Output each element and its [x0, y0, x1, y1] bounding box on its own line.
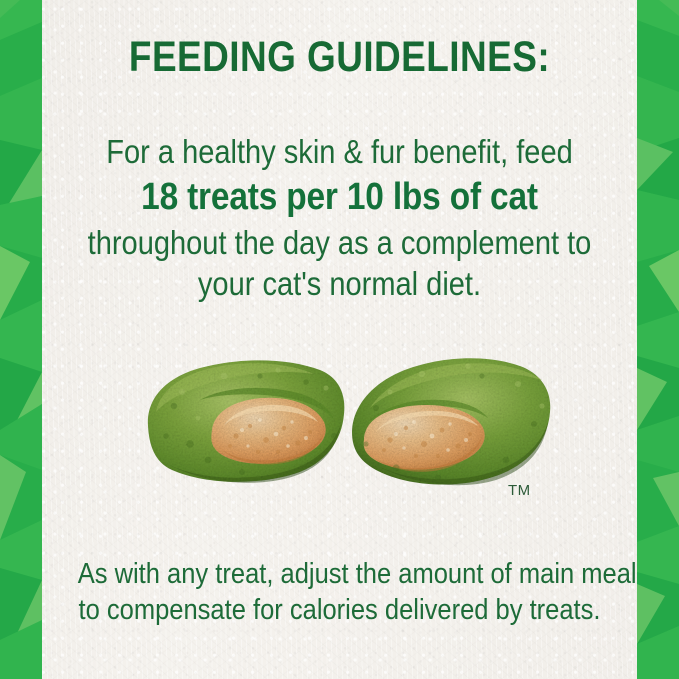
trademark-symbol: TM: [508, 482, 531, 499]
feeding-instructions: For a healthy skin & fur benefit, feed 1…: [42, 131, 637, 304]
footer-line-2: to compensate for calories delivered by …: [78, 592, 602, 628]
treat-left: [148, 360, 345, 482]
footer-note: As with any treat, adjust the amount of …: [42, 556, 637, 628]
feeding-guidelines-panel: FEEDING GUIDELINES: For a healthy skin &…: [0, 0, 679, 679]
instruction-line-4: your cat's normal diet.: [78, 263, 602, 304]
faceted-stripe-graphic-left: [0, 0, 42, 679]
footer-line-1: As with any treat, adjust the amount of …: [78, 556, 602, 592]
cat-treat-cross-section-graphic: [138, 348, 558, 493]
faceted-stripe-graphic-right: [637, 0, 679, 679]
page-title: FEEDING GUIDELINES:: [84, 36, 596, 79]
cat-treat-image: [138, 348, 558, 493]
left-green-stripe: [0, 0, 42, 679]
treat-right: [352, 358, 550, 485]
instruction-line-3: throughout the day as a complement to: [78, 222, 602, 263]
instruction-dosage-emphasis: 18 treats per 10 lbs of cat: [78, 172, 602, 222]
right-green-stripe: [637, 0, 679, 679]
instruction-line-1: For a healthy skin & fur benefit, feed: [78, 131, 602, 172]
